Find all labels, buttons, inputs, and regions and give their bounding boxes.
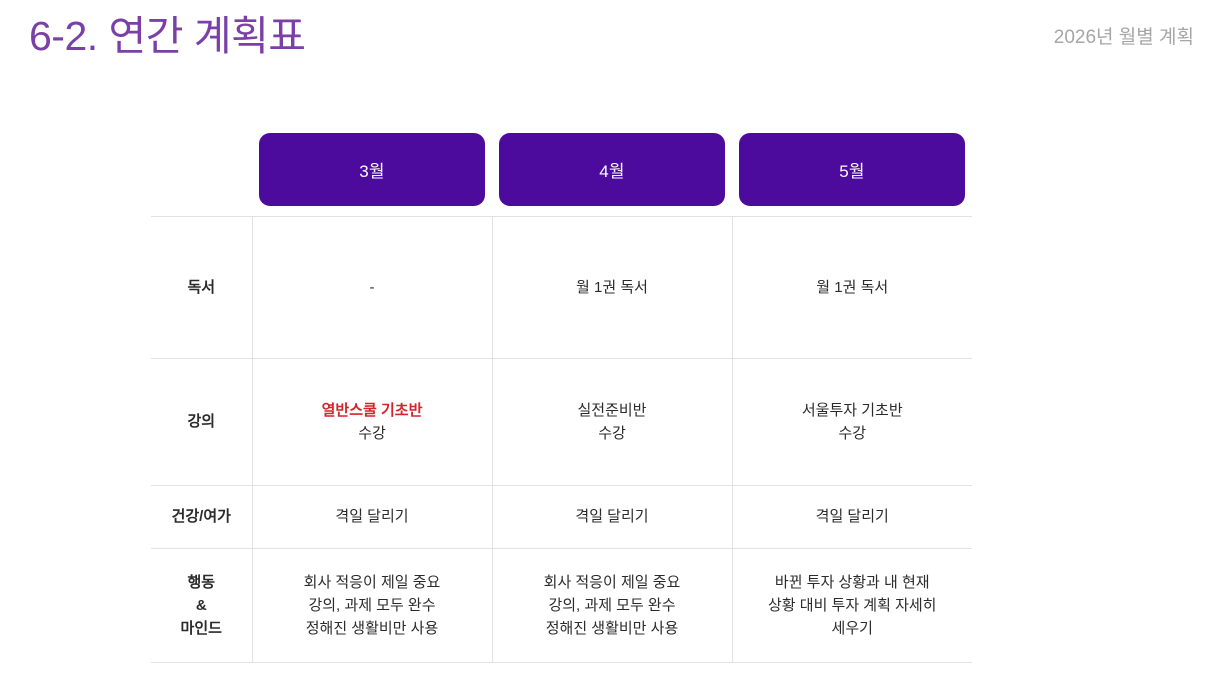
cell-line: 강의, 과제 모두 완수 <box>499 594 726 617</box>
cell-r2-c3: 서울투자 기초반수강 <box>732 359 972 486</box>
cell-r1-c2: 월 1권 독서 <box>492 217 732 359</box>
month-header-2[interactable]: 4월 <box>499 133 725 206</box>
cell-lines: 월 1권 독서 <box>739 276 967 299</box>
cell-line: 수강 <box>499 422 726 445</box>
cell-r4-c3: 바뀐 투자 상황과 내 현재상황 대비 투자 계획 자세히세우기 <box>732 549 972 663</box>
cell-line: 월 1권 독서 <box>739 276 967 299</box>
cell-lines: 월 1권 독서 <box>499 276 726 299</box>
row-label-line: 강의 <box>157 410 246 433</box>
cell-r3-c1: 격일 달리기 <box>252 486 492 549</box>
cell-line: 수강 <box>739 422 967 445</box>
cell-line: 수강 <box>259 422 486 445</box>
cell-lines: 격일 달리기 <box>739 505 967 528</box>
month-header-label: 5월 <box>839 157 865 182</box>
cell-line: 격일 달리기 <box>739 505 967 528</box>
annual-plan-table-body: 독서-월 1권 독서월 1권 독서강의열반스쿨 기초반수강실전준비반수강서울투자… <box>151 217 972 663</box>
row-label-line: 건강/여가 <box>157 505 246 528</box>
cell-lines: 격일 달리기 <box>259 505 486 528</box>
cell-lines: 실전준비반수강 <box>499 399 726 446</box>
cell-r2-c1: 열반스쿨 기초반수강 <box>252 359 492 486</box>
cell-line: - <box>259 276 486 299</box>
page-title: 6-2. 연간 계획표 <box>29 12 306 61</box>
row-label-lines: 행동&마인드 <box>157 571 246 641</box>
cell-lines: 바뀐 투자 상황과 내 현재상황 대비 투자 계획 자세히세우기 <box>739 571 967 641</box>
month-header-row: 3월4월5월 <box>252 133 972 206</box>
row-label-lines: 강의 <box>157 410 246 433</box>
cell-line: 회사 적응이 제일 중요 <box>259 571 486 594</box>
row-label-1: 독서 <box>151 217 252 359</box>
cell-r2-c2: 실전준비반수강 <box>492 359 732 486</box>
cell-line: 실전준비반 <box>499 399 726 422</box>
table-row: 건강/여가격일 달리기격일 달리기격일 달리기 <box>151 486 972 549</box>
cell-line: 강의, 과제 모두 완수 <box>259 594 486 617</box>
table-row: 강의열반스쿨 기초반수강실전준비반수강서울투자 기초반수강 <box>151 359 972 486</box>
month-header-1[interactable]: 3월 <box>259 133 485 206</box>
month-header-slot: 5월 <box>732 133 972 206</box>
cell-r3-c2: 격일 달리기 <box>492 486 732 549</box>
cell-line: 월 1권 독서 <box>499 276 726 299</box>
row-label-line: 독서 <box>157 276 246 299</box>
row-label-lines: 건강/여가 <box>157 505 246 528</box>
row-label-4: 행동&마인드 <box>151 549 252 663</box>
month-header-slot: 3월 <box>252 133 492 206</box>
cell-lines: 서울투자 기초반수강 <box>739 399 967 446</box>
cell-r4-c1: 회사 적응이 제일 중요강의, 과제 모두 완수정해진 생활비만 사용 <box>252 549 492 663</box>
row-label-line: 행동 <box>157 571 246 594</box>
cell-line: 정해진 생활비만 사용 <box>499 617 726 640</box>
cell-line: 서울투자 기초반 <box>739 399 967 422</box>
cell-r1-c3: 월 1권 독서 <box>732 217 972 359</box>
row-label-3: 건강/여가 <box>151 486 252 549</box>
table-row: 행동&마인드회사 적응이 제일 중요강의, 과제 모두 완수정해진 생활비만 사… <box>151 549 972 663</box>
row-label-lines: 독서 <box>157 276 246 299</box>
cell-line: 세우기 <box>739 617 967 640</box>
row-label-line: 마인드 <box>157 617 246 640</box>
cell-lines: 격일 달리기 <box>499 505 726 528</box>
cell-lines: 회사 적응이 제일 중요강의, 과제 모두 완수정해진 생활비만 사용 <box>259 571 486 641</box>
cell-line: 상황 대비 투자 계획 자세히 <box>739 594 967 617</box>
month-header-slot: 4월 <box>492 133 732 206</box>
cell-lines: 열반스쿨 기초반수강 <box>259 399 486 446</box>
cell-line: 격일 달리기 <box>499 505 726 528</box>
cell-r4-c2: 회사 적응이 제일 중요강의, 과제 모두 완수정해진 생활비만 사용 <box>492 549 732 663</box>
month-header-label: 3월 <box>359 157 385 182</box>
cell-line: 회사 적응이 제일 중요 <box>499 571 726 594</box>
cell-line: 바뀐 투자 상황과 내 현재 <box>739 571 967 594</box>
page-subtitle: 2026년 월별 계획 <box>1054 27 1194 50</box>
month-header-label: 4월 <box>599 157 625 182</box>
cell-lines: 회사 적응이 제일 중요강의, 과제 모두 완수정해진 생활비만 사용 <box>499 571 726 641</box>
cell-lines: - <box>259 276 486 299</box>
cell-r3-c3: 격일 달리기 <box>732 486 972 549</box>
month-header-3[interactable]: 5월 <box>739 133 965 206</box>
cell-line: 열반스쿨 기초반 <box>259 399 486 422</box>
row-label-line: & <box>157 594 246 617</box>
row-label-2: 강의 <box>151 359 252 486</box>
cell-line: 격일 달리기 <box>259 505 486 528</box>
annual-plan-table: 독서-월 1권 독서월 1권 독서강의열반스쿨 기초반수강실전준비반수강서울투자… <box>151 216 972 663</box>
cell-r1-c1: - <box>252 217 492 359</box>
cell-line: 정해진 생활비만 사용 <box>259 617 486 640</box>
table-row: 독서-월 1권 독서월 1권 독서 <box>151 217 972 359</box>
